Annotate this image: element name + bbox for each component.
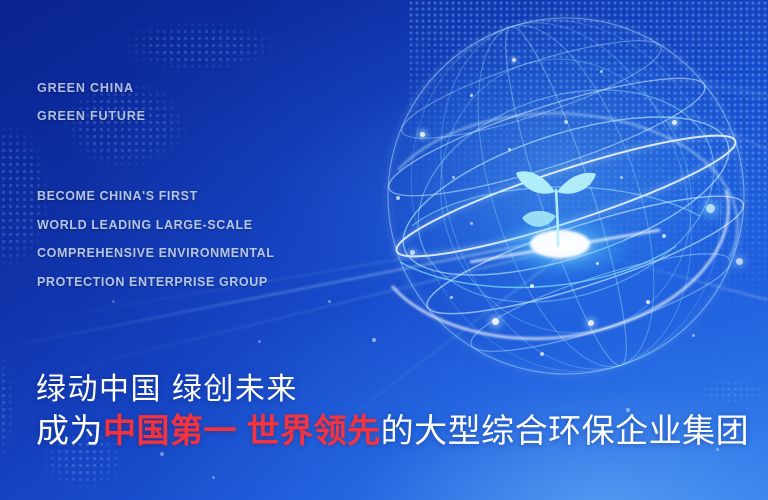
headline-cn: 绿动中国 绿创未来 成为中国第一 世界领先的大型综合环保企业集团 [36,370,749,452]
headline-cn-line2-prefix: 成为 [36,412,103,449]
slogan-en-mid-line2: WORLD LEADING LARGE-SCALE [37,211,275,240]
headline-cn-line2: 成为中国第一 世界领先的大型综合环保企业集团 [36,410,749,452]
headline-cn-line2-suffix: 的大型综合环保企业集团 [381,412,750,449]
headline-cn-line1: 绿动中国 绿创未来 [36,370,749,410]
headline-cn-line2-highlight: 中国第一 世界领先 [103,412,381,449]
slogan-en-top-line1: GREEN CHINA [37,74,146,102]
slogan-en-top: GREEN CHINA GREEN FUTURE [37,74,146,130]
slogan-en-mid: BECOME CHINA'S FIRST WORLD LEADING LARGE… [37,182,275,296]
slogan-en-mid-line1: BECOME CHINA'S FIRST [37,182,275,211]
slogan-en-mid-line3: COMPREHENSIVE ENVIRONMENTAL [37,239,275,268]
slogan-en-mid-line4: PROTECTION ENTERPRISE GROUP [37,268,275,297]
slogan-en-top-line2: GREEN FUTURE [37,102,146,130]
hero-banner: GREEN CHINA GREEN FUTURE BECOME CHINA'S … [0,0,768,500]
